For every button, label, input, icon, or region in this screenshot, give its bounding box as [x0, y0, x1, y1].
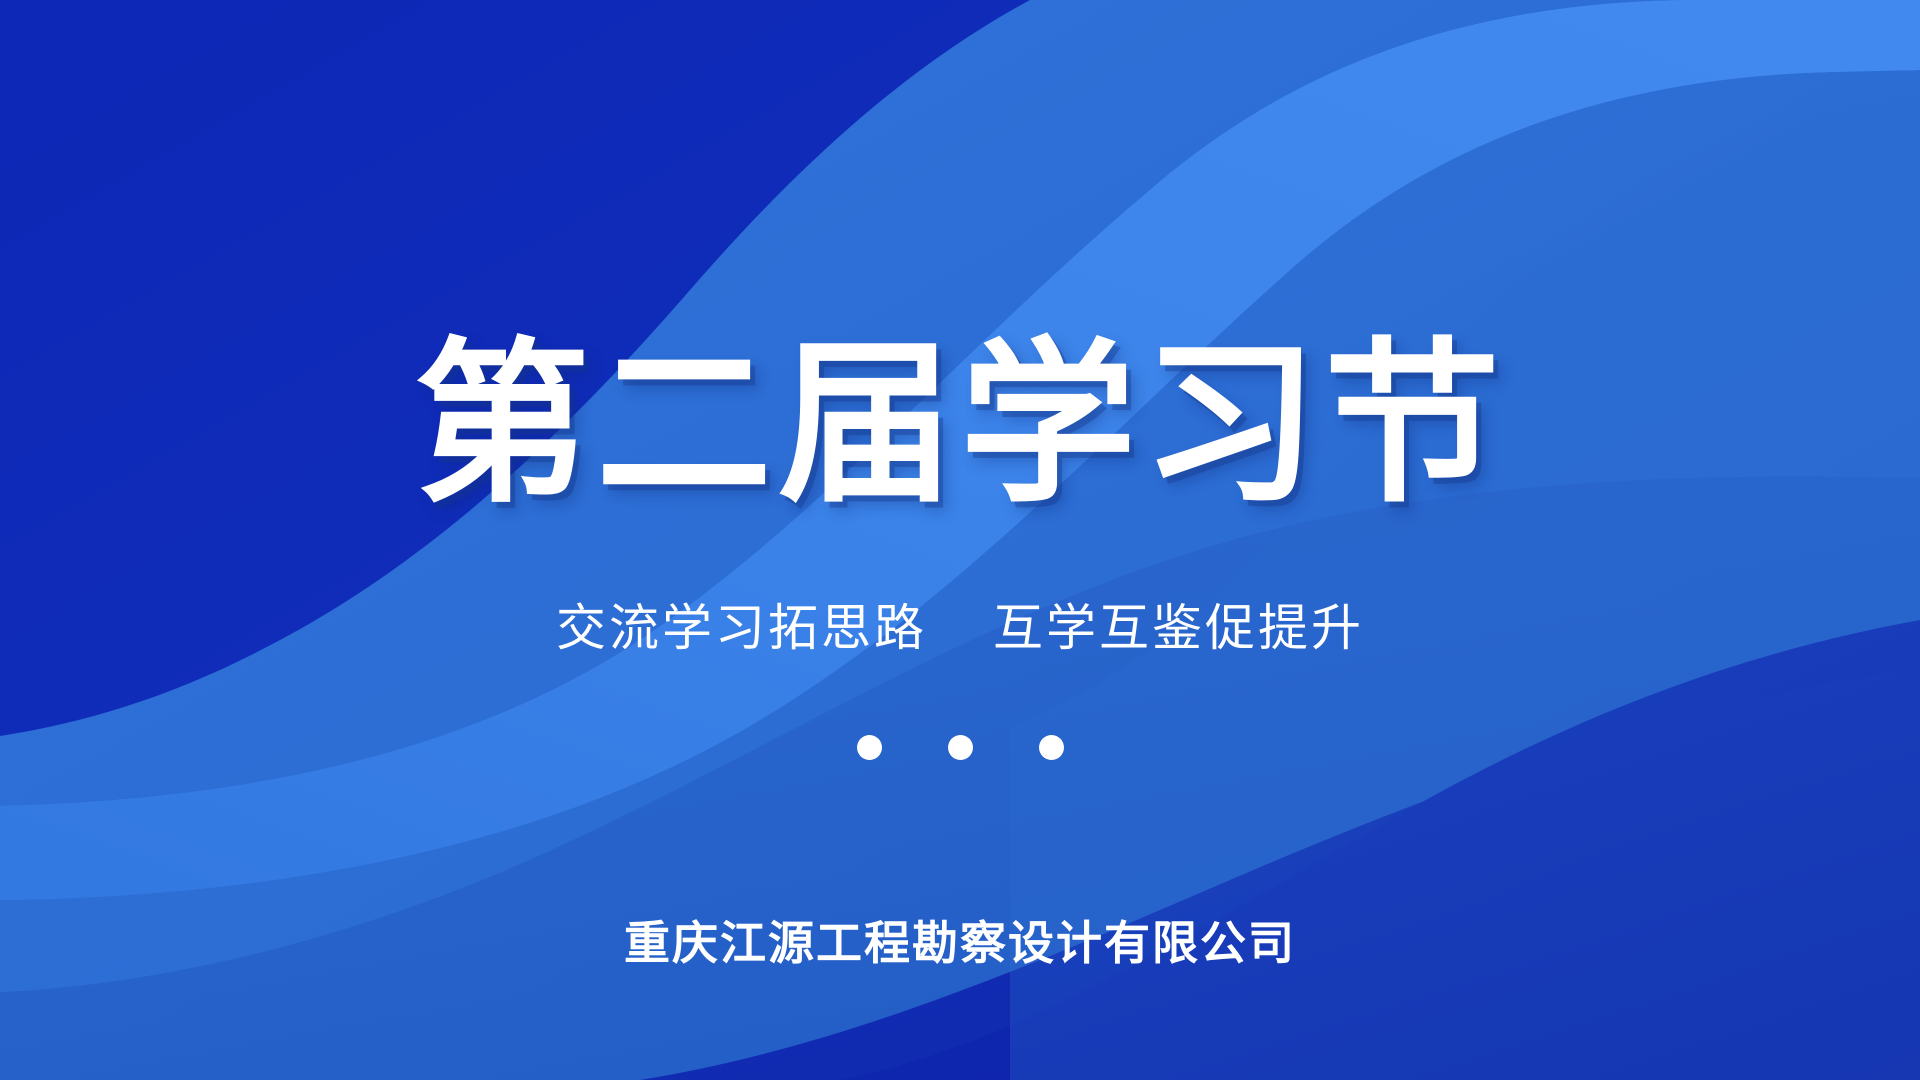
poster-canvas: 第二届学习节 交流学习拓思路互学互鉴促提升 重庆江源工程勘察设计有限公司	[0, 0, 1920, 1080]
subtitle-right-phrase: 互学互鉴促提升	[993, 599, 1364, 657]
poster-content: 第二届学习节 交流学习拓思路互学互鉴促提升 重庆江源工程勘察设计有限公司	[0, 0, 1920, 1080]
title-block: 第二届学习节	[0, 330, 1920, 520]
dot-icon	[948, 735, 973, 760]
dot-icon	[857, 735, 882, 760]
subtitle-line: 交流学习拓思路互学互鉴促提升	[0, 598, 1920, 658]
subtitle-left-phrase: 交流学习拓思路	[556, 599, 927, 657]
company-block: 重庆江源工程勘察设计有限公司	[0, 916, 1920, 971]
dot-icon	[1039, 735, 1064, 760]
company-name: 重庆江源工程勘察设计有限公司	[0, 916, 1920, 971]
subtitle-block: 交流学习拓思路互学互鉴促提升	[0, 598, 1920, 658]
decorative-dots	[0, 735, 1920, 760]
page-title: 第二届学习节	[0, 330, 1920, 520]
